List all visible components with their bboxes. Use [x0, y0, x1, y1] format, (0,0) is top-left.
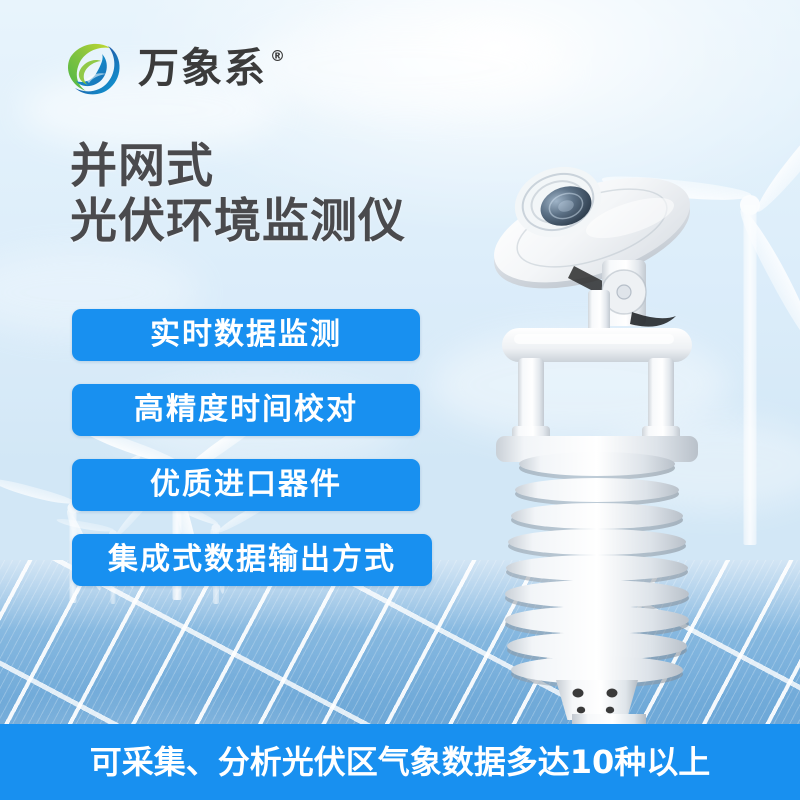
- product-device-image: [470, 140, 750, 720]
- headline-line-2: 光伏环境监测仪: [70, 195, 406, 250]
- feature-badge-1[interactable]: 实时数据监测: [72, 309, 420, 361]
- page-title: 并网式 光伏环境监测仪: [70, 140, 406, 249]
- registered-trademark-icon: ®: [270, 49, 285, 64]
- feature-badge-label: 优质进口器件: [150, 470, 342, 500]
- feature-badge-label: 高精度时间校对: [134, 395, 358, 425]
- bottom-banner: 可采集、分析光伏区气象数据多达10种以上: [0, 724, 800, 800]
- feature-badge-2[interactable]: 高精度时间校对: [72, 384, 420, 436]
- louvered-radiation-shield: [505, 452, 689, 688]
- ultrasonic-wind-sensor: [496, 328, 698, 462]
- brand-logo: 万象系 ®: [62, 36, 285, 100]
- feature-badge-list: 实时数据监测 高精度时间校对 优质进口器件 集成式数据输出方式: [72, 309, 432, 609]
- globe-swirl-logo-icon: [62, 36, 126, 100]
- brand-name: 万象系: [138, 48, 267, 89]
- feature-badge-3[interactable]: 优质进口器件: [72, 459, 420, 511]
- feature-badge-4[interactable]: 集成式数据输出方式: [72, 534, 432, 586]
- cloud-decoration: [240, 20, 570, 115]
- feature-badge-label: 实时数据监测: [150, 320, 342, 350]
- product-poster: 万象系 ® 并网式 光伏环境监测仪 实时数据监测 高精度时间校对 优质进口器件 …: [0, 0, 800, 800]
- headline-line-1: 并网式: [70, 140, 406, 195]
- bottom-banner-text: 可采集、分析光伏区气象数据多达10种以上: [90, 746, 711, 778]
- feature-badge-label: 集成式数据输出方式: [108, 545, 396, 575]
